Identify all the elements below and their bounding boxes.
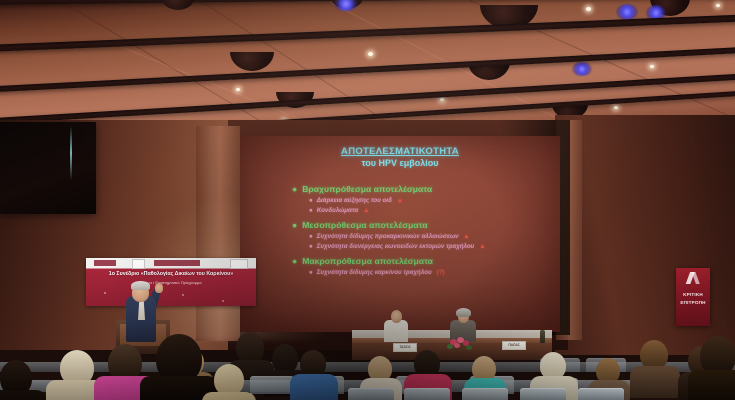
projection-screen: ΑΠΟΤΕΛΕΣΜΑΤΙΚΟΤΗΤΑ του HPV εμβολίου ●Βρα… [240,136,560,332]
sub-bullet-dot-icon: ● [309,197,313,204]
banner-subtitle: Αθήνα • Επιστημονικό Πρόγραμμα [90,280,252,285]
wall-dark-panel [0,122,96,214]
sub-bullet-dot-icon: ● [309,233,313,240]
up-arrow-icon: ▲ [363,207,369,214]
slide-sub-bullet: ●Συχνότητα δίδυμης προκαρκινικών αλλοιώσ… [309,233,485,240]
slide-bullet-heading: ●Μακροπρόθεσμα αποτελέσματα [292,256,445,266]
sub-bullet-dot-icon: ● [309,243,313,250]
swoosh-logo-icon [683,272,703,284]
ceiling-speaker [160,0,196,10]
slide-bullet-group: ●Βραχυπρόθεσμα αποτελέσματα ●Διάρκεια αύ… [292,184,432,214]
ceiling-beam [0,13,735,53]
up-arrow-icon: ▲ [479,243,485,250]
bullet-dot-icon: ● [292,184,297,194]
slide-title: ΑΠΟΤΕΛΕΣΜΑΤΙΚΟΤΗΤΑ [240,146,560,157]
sub-bullet-dot-icon: ● [309,207,313,214]
blue-stage-light [334,0,358,11]
podium-banner: 1ο Συνέδριο «Παθολογίας Δικαίων του Καρκ… [86,258,256,306]
banner-logo-icon [132,259,145,269]
up-arrow-icon: ▲ [397,197,403,204]
speaker-hair [131,281,150,290]
slide-sub-bullet: ●Συχνότητα δίδυμης καρκίνου τραχήλου(?) [309,269,445,276]
up-arrow-icon: ▲ [463,233,469,240]
conference-photo: ΑΠΟΤΕΛΕΣΜΑΤΙΚΟΤΗΤΑ του HPV εμβολίου ●Βρα… [0,0,735,400]
slide-sub-bullet: ●Διάρκεια αύξησης του οιδ▲ [309,197,432,204]
side-banner-line1: ΚΡΙΤΙΚΗ [676,292,710,297]
sub-bullet-dot-icon: ● [309,269,313,276]
side-banner: ΚΡΙΤΙΚΗ ΕΠΙΤΡΟΠΗ [676,268,710,326]
panelist-head [391,310,402,323]
presentation-slide: ΑΠΟΤΕΛΕΣΜΑΤΙΚΟΤΗΤΑ του HPV εμβολίου ●Βρα… [240,136,560,332]
slide-bullet-heading: ●Βραχυπρόθεσμα αποτελέσματα [292,184,432,194]
slide-sub-bullet: ●Συχνότητα διενέργειας κωνοειδών εκτομών… [309,243,485,250]
slide-subtitle: του HPV εμβολίου [240,158,560,168]
blue-stage-light [572,62,592,76]
slide-bullet-group: ●Μακροπρόθεσμα αποτελέσματα ●Συχνότητα δ… [292,256,445,276]
seat [462,388,508,400]
seat [250,376,294,394]
slide-bullet-group: ●Μεσοπρόθεσμα αποτελέσματα ●Συχνότητα δί… [292,220,485,250]
bullet-dot-icon: ● [292,220,297,230]
question-marker-icon: (?) [437,269,445,276]
speaker-hand-icon [155,283,163,293]
ceiling-speaker [230,52,274,71]
banner-logo-icon [230,259,248,269]
light-strip [70,126,72,180]
slide-sub-bullet: ●Κονδυλώματα▲ [309,207,432,214]
seat [520,388,566,400]
blue-stage-light [616,4,638,20]
seat [348,388,394,400]
panelist-hair [456,308,471,317]
slide-title-text: ΑΠΟΤΕΛΕΣΜΑΤΙΚΟΤΗΤΑ [341,146,459,157]
bullet-dot-icon: ● [292,256,297,266]
slide-bullet-heading: ●Μεσοπρόθεσμα αποτελέσματα [292,220,485,230]
audience [0,330,735,400]
seat [578,388,624,400]
seat [404,388,450,400]
banner-title: 1ο Συνέδριο «Παθολογίας Δικαίων του Καρκ… [90,271,252,277]
side-banner-line2: ΕΠΙΤΡΟΠΗ [676,300,710,305]
banner-logo-strip [86,258,256,268]
